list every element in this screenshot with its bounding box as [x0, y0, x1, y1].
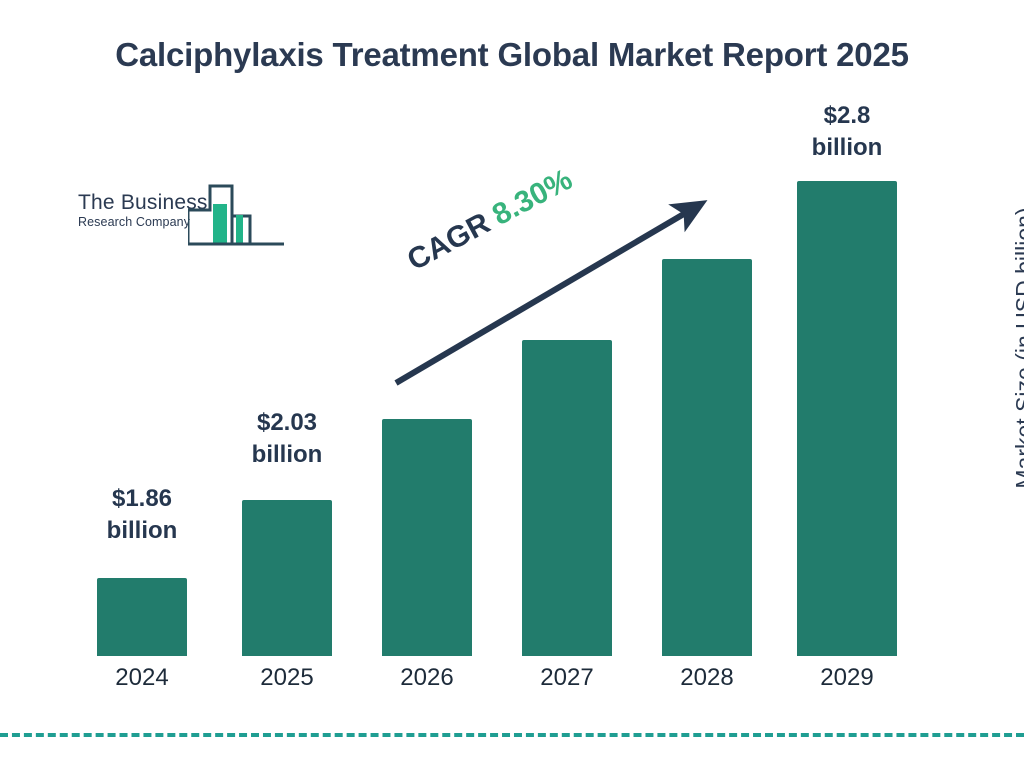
value-label-2024: $1.86 billion	[72, 483, 212, 548]
cagr-value: 8.30%	[487, 163, 578, 232]
x-tick-2024: 2024	[82, 664, 202, 692]
bar-2027[interactable]	[522, 340, 612, 656]
cagr-annotation: CAGR8.30%	[402, 163, 578, 278]
x-tick-2027: 2027	[507, 664, 627, 692]
x-tick-2029: 2029	[787, 664, 907, 692]
x-tick-2025: 2025	[227, 664, 347, 692]
x-tick-2026: 2026	[367, 664, 487, 692]
bottom-divider	[0, 733, 1024, 737]
chart-canvas: Calciphylaxis Treatment Global Market Re…	[0, 0, 1024, 768]
x-tick-2028: 2028	[647, 664, 767, 692]
bar-2024[interactable]	[97, 578, 187, 656]
value-label-2025: $2.03 billion	[217, 407, 357, 472]
y-axis-title: Market Size (in USD billion)	[1011, 168, 1024, 528]
bar-2028[interactable]	[662, 259, 752, 656]
plot-area: $1.86 billion $2.03 billion $2.8 billion…	[0, 0, 1024, 768]
cagr-label: CAGR	[402, 207, 495, 278]
bar-2026[interactable]	[382, 419, 472, 656]
value-label-2029: $2.8 billion	[777, 100, 917, 165]
bar-2029[interactable]	[797, 181, 897, 656]
bar-2025[interactable]	[242, 500, 332, 656]
